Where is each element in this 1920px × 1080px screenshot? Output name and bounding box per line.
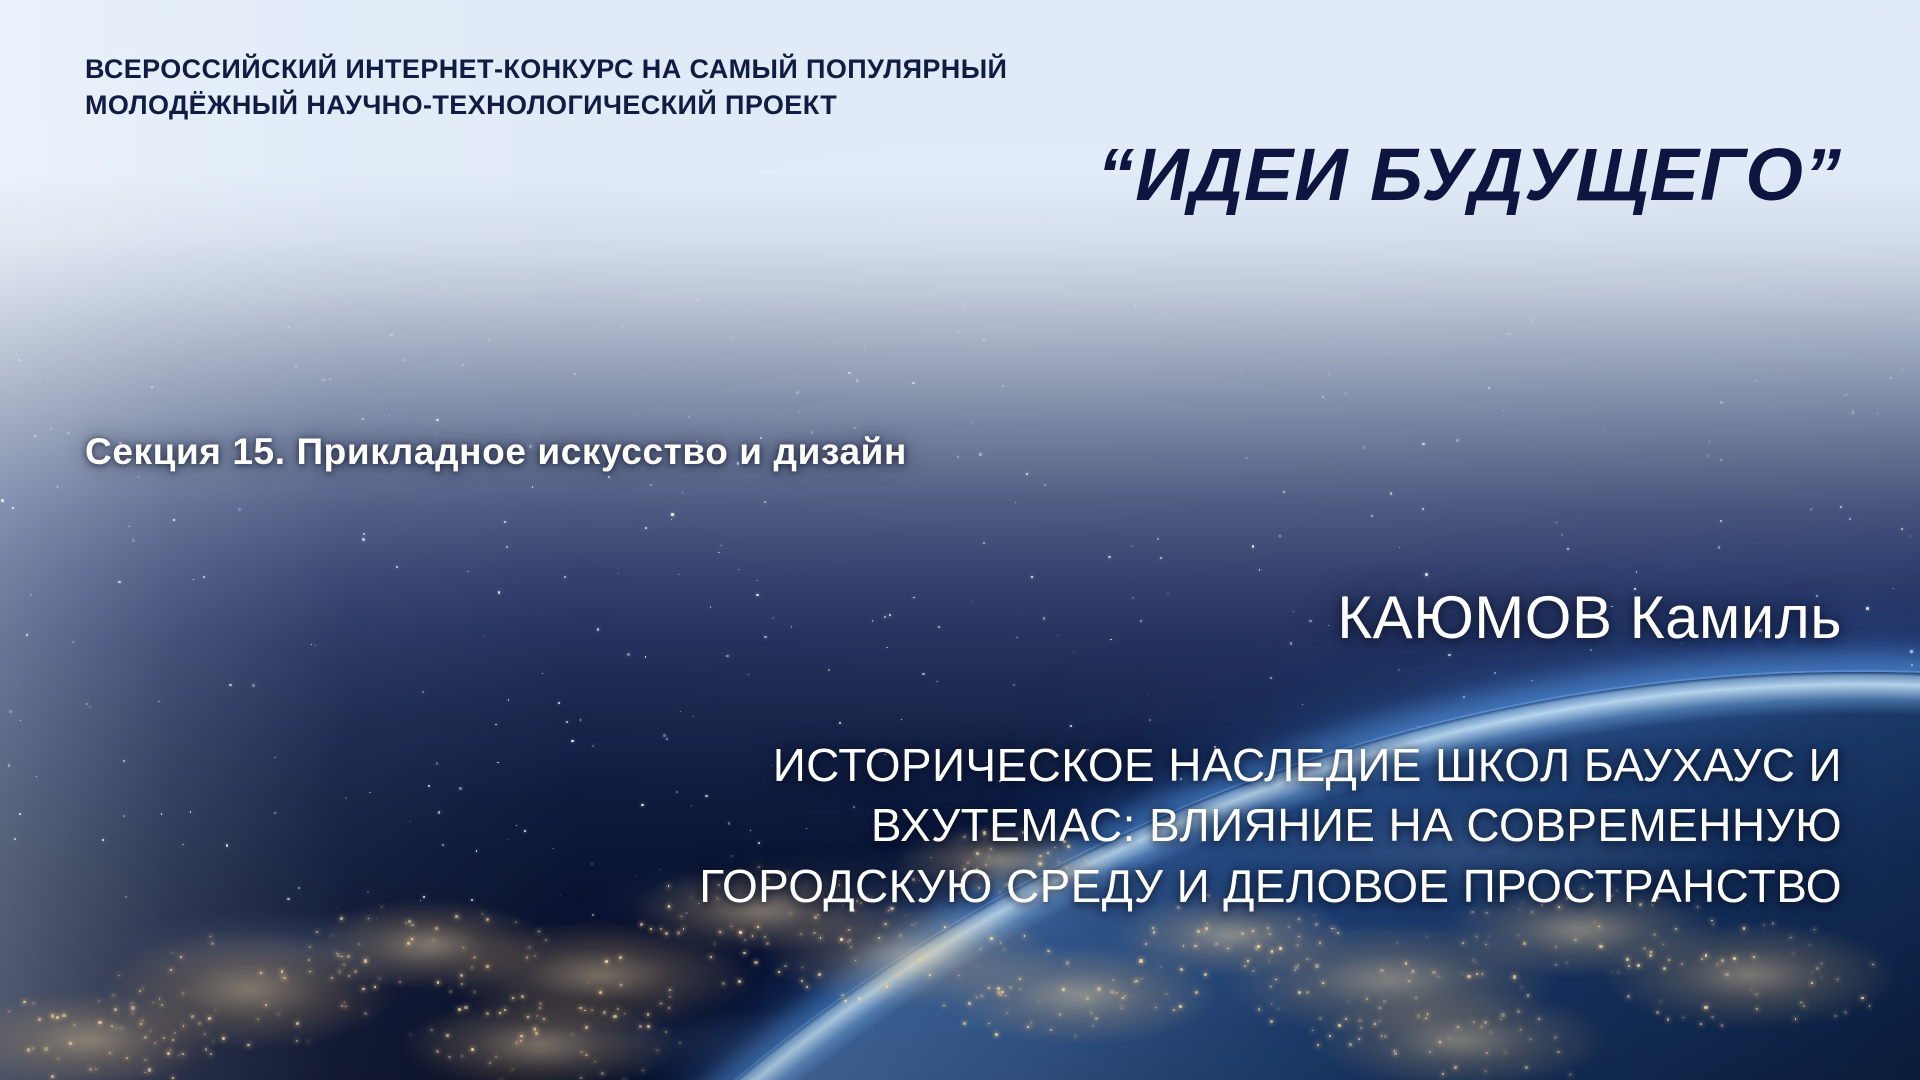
- presentation-slide: ВСЕРОССИЙСКИЙ ИНТЕРНЕТ-КОНКУРС НА САМЫЙ …: [0, 0, 1920, 1080]
- project-title-line-1: ИСТОРИЧЕСКОЕ НАСЛЕДИЕ ШКОЛ БАУХАУС И: [342, 735, 1842, 795]
- project-title-line-3: ГОРОДСКУЮ СРЕДУ И ДЕЛОВОЕ ПРОСТРАНСТВО: [342, 856, 1842, 916]
- page-title: “ИДЕИ БУДУЩЕГО”: [1097, 138, 1842, 212]
- slide-content: ВСЕРОССИЙСКИЙ ИНТЕРНЕТ-КОНКУРС НА САМЫЙ …: [0, 0, 1920, 1080]
- contest-kicker: ВСЕРОССИЙСКИЙ ИНТЕРНЕТ-КОНКУРС НА САМЫЙ …: [85, 52, 1007, 124]
- author-name: КАЮМОВ Камиль: [1337, 583, 1842, 652]
- project-title-line-2: ВХУТЕМАС: ВЛИЯНИЕ НА СОВРЕМЕННУЮ: [342, 795, 1842, 855]
- section-label: Секция 15. Прикладное искусство и дизайн: [85, 431, 907, 473]
- project-title: ИСТОРИЧЕСКОЕ НАСЛЕДИЕ ШКОЛ БАУХАУС И ВХУ…: [342, 735, 1842, 916]
